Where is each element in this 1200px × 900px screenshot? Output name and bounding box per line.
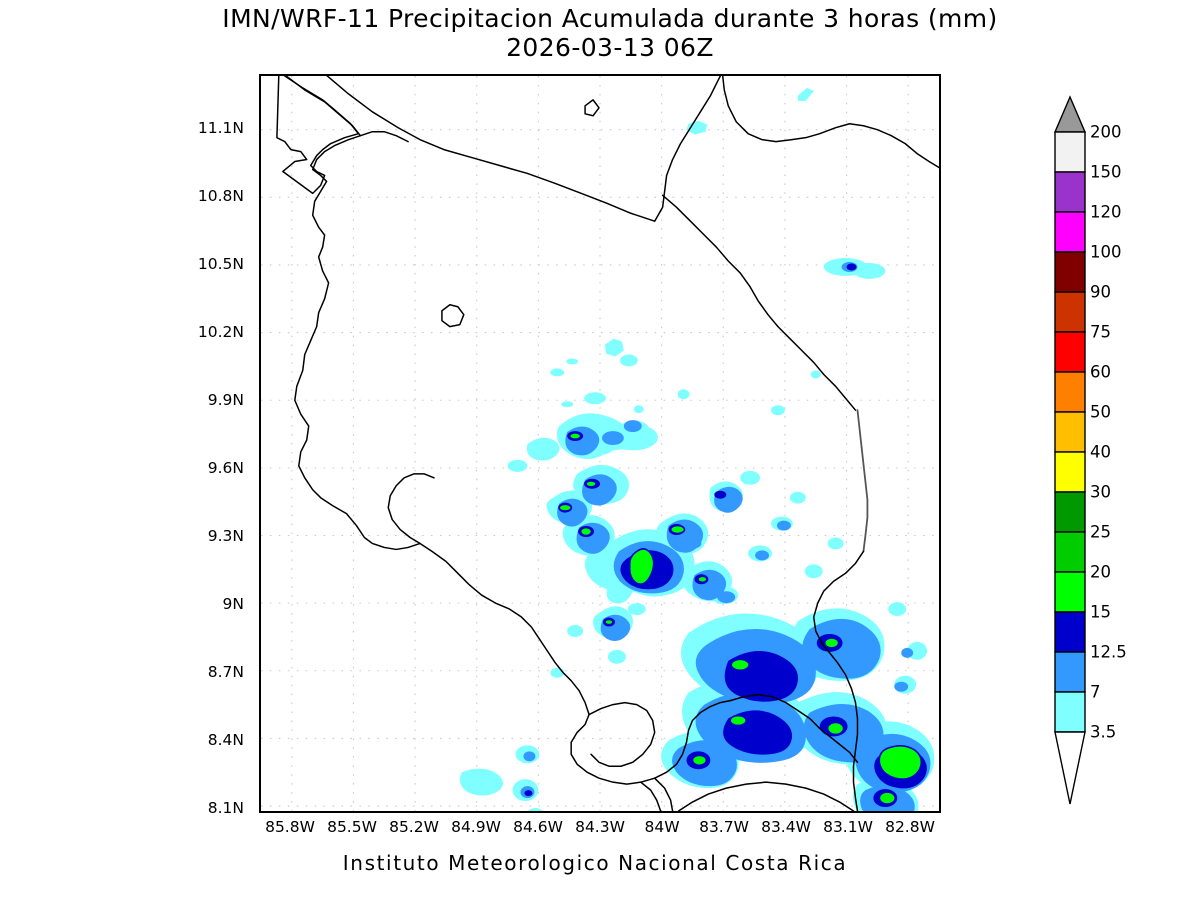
cb-tick-60: 60 xyxy=(1090,363,1111,382)
cb-tick-3-5: 3.5 xyxy=(1090,723,1116,742)
ytick-9-9n: 9.9N xyxy=(208,391,244,409)
xtick-84-3w: 84.3W xyxy=(575,818,625,836)
ytick-9-6n: 9.6N xyxy=(208,459,244,477)
xtick-84-9w: 84.9W xyxy=(451,818,501,836)
ytick-8-7n: 8.7N xyxy=(208,663,244,681)
ytick-11-1n: 11.1N xyxy=(198,119,244,137)
cb-tick-7: 7 xyxy=(1090,683,1101,702)
map-plot-area[interactable] xyxy=(259,74,941,813)
colorbar-tick-labels: 200 150 120 100 90 75 60 50 40 30 25 20 … xyxy=(1090,92,1200,812)
cb-tick-120: 120 xyxy=(1090,203,1122,222)
colorbar[interactable]: 200 150 120 100 90 75 60 50 40 30 25 20 … xyxy=(1050,92,1200,812)
x-axis-labels: 85.8W 85.5W 85.2W 84.9W 84.6W 84.3W 84W … xyxy=(259,818,941,842)
xtick-85-8w: 85.8W xyxy=(265,818,315,836)
xtick-83-7w: 83.7W xyxy=(699,818,749,836)
xtick-84w: 84W xyxy=(644,818,679,836)
precipitation-contours xyxy=(460,88,934,811)
xtick-83-1w: 83.1W xyxy=(823,818,873,836)
chart-title-block: IMN/WRF-11 Precipitacion Acumulada duran… xyxy=(0,4,1200,62)
ytick-9-3n: 9.3N xyxy=(208,527,244,545)
footer-text: Instituto Meteorologico Nacional Costa R… xyxy=(343,851,847,875)
chart-subtitle: 2026-03-13 06Z xyxy=(20,33,1200,62)
xtick-85-5w: 85.5W xyxy=(327,818,377,836)
ytick-10-8n: 10.8N xyxy=(198,187,244,205)
cb-tick-15: 15 xyxy=(1090,603,1111,622)
ytick-8-4n: 8.4N xyxy=(208,731,244,749)
page-title: IMN/WRF-11 Precipitacion Acumulada duran… xyxy=(20,4,1200,33)
xtick-83-4w: 83.4W xyxy=(761,818,811,836)
cb-tick-30: 30 xyxy=(1090,483,1111,502)
cb-tick-25: 25 xyxy=(1090,523,1111,542)
colorbar-over-arrow xyxy=(1055,97,1085,132)
cb-tick-12-5: 12.5 xyxy=(1090,643,1127,662)
colorbar-under-arrow xyxy=(1055,732,1085,804)
ytick-9n: 9N xyxy=(223,595,244,613)
footer-credit: Instituto Meteorologico Nacional Costa R… xyxy=(0,851,1200,875)
y-axis-labels: 11.1N 10.8N 10.5N 10.2N 9.9N 9.6N 9.3N 9… xyxy=(0,74,252,813)
cb-tick-40: 40 xyxy=(1090,443,1111,462)
xtick-82-8w: 82.8W xyxy=(885,818,935,836)
cb-tick-90: 90 xyxy=(1090,283,1111,302)
cb-tick-20: 20 xyxy=(1090,563,1111,582)
cb-tick-100: 100 xyxy=(1090,243,1122,262)
cb-tick-50: 50 xyxy=(1090,403,1111,422)
precipitation-map xyxy=(261,76,939,811)
ytick-8-1n: 8.1N xyxy=(208,799,244,817)
ytick-10-2n: 10.2N xyxy=(198,323,244,341)
ytick-10-5n: 10.5N xyxy=(198,255,244,273)
cb-tick-150: 150 xyxy=(1090,163,1122,182)
xtick-85-2w: 85.2W xyxy=(389,818,439,836)
xtick-84-6w: 84.6W xyxy=(513,818,563,836)
cb-tick-75: 75 xyxy=(1090,323,1111,342)
cb-tick-200: 200 xyxy=(1090,123,1122,142)
